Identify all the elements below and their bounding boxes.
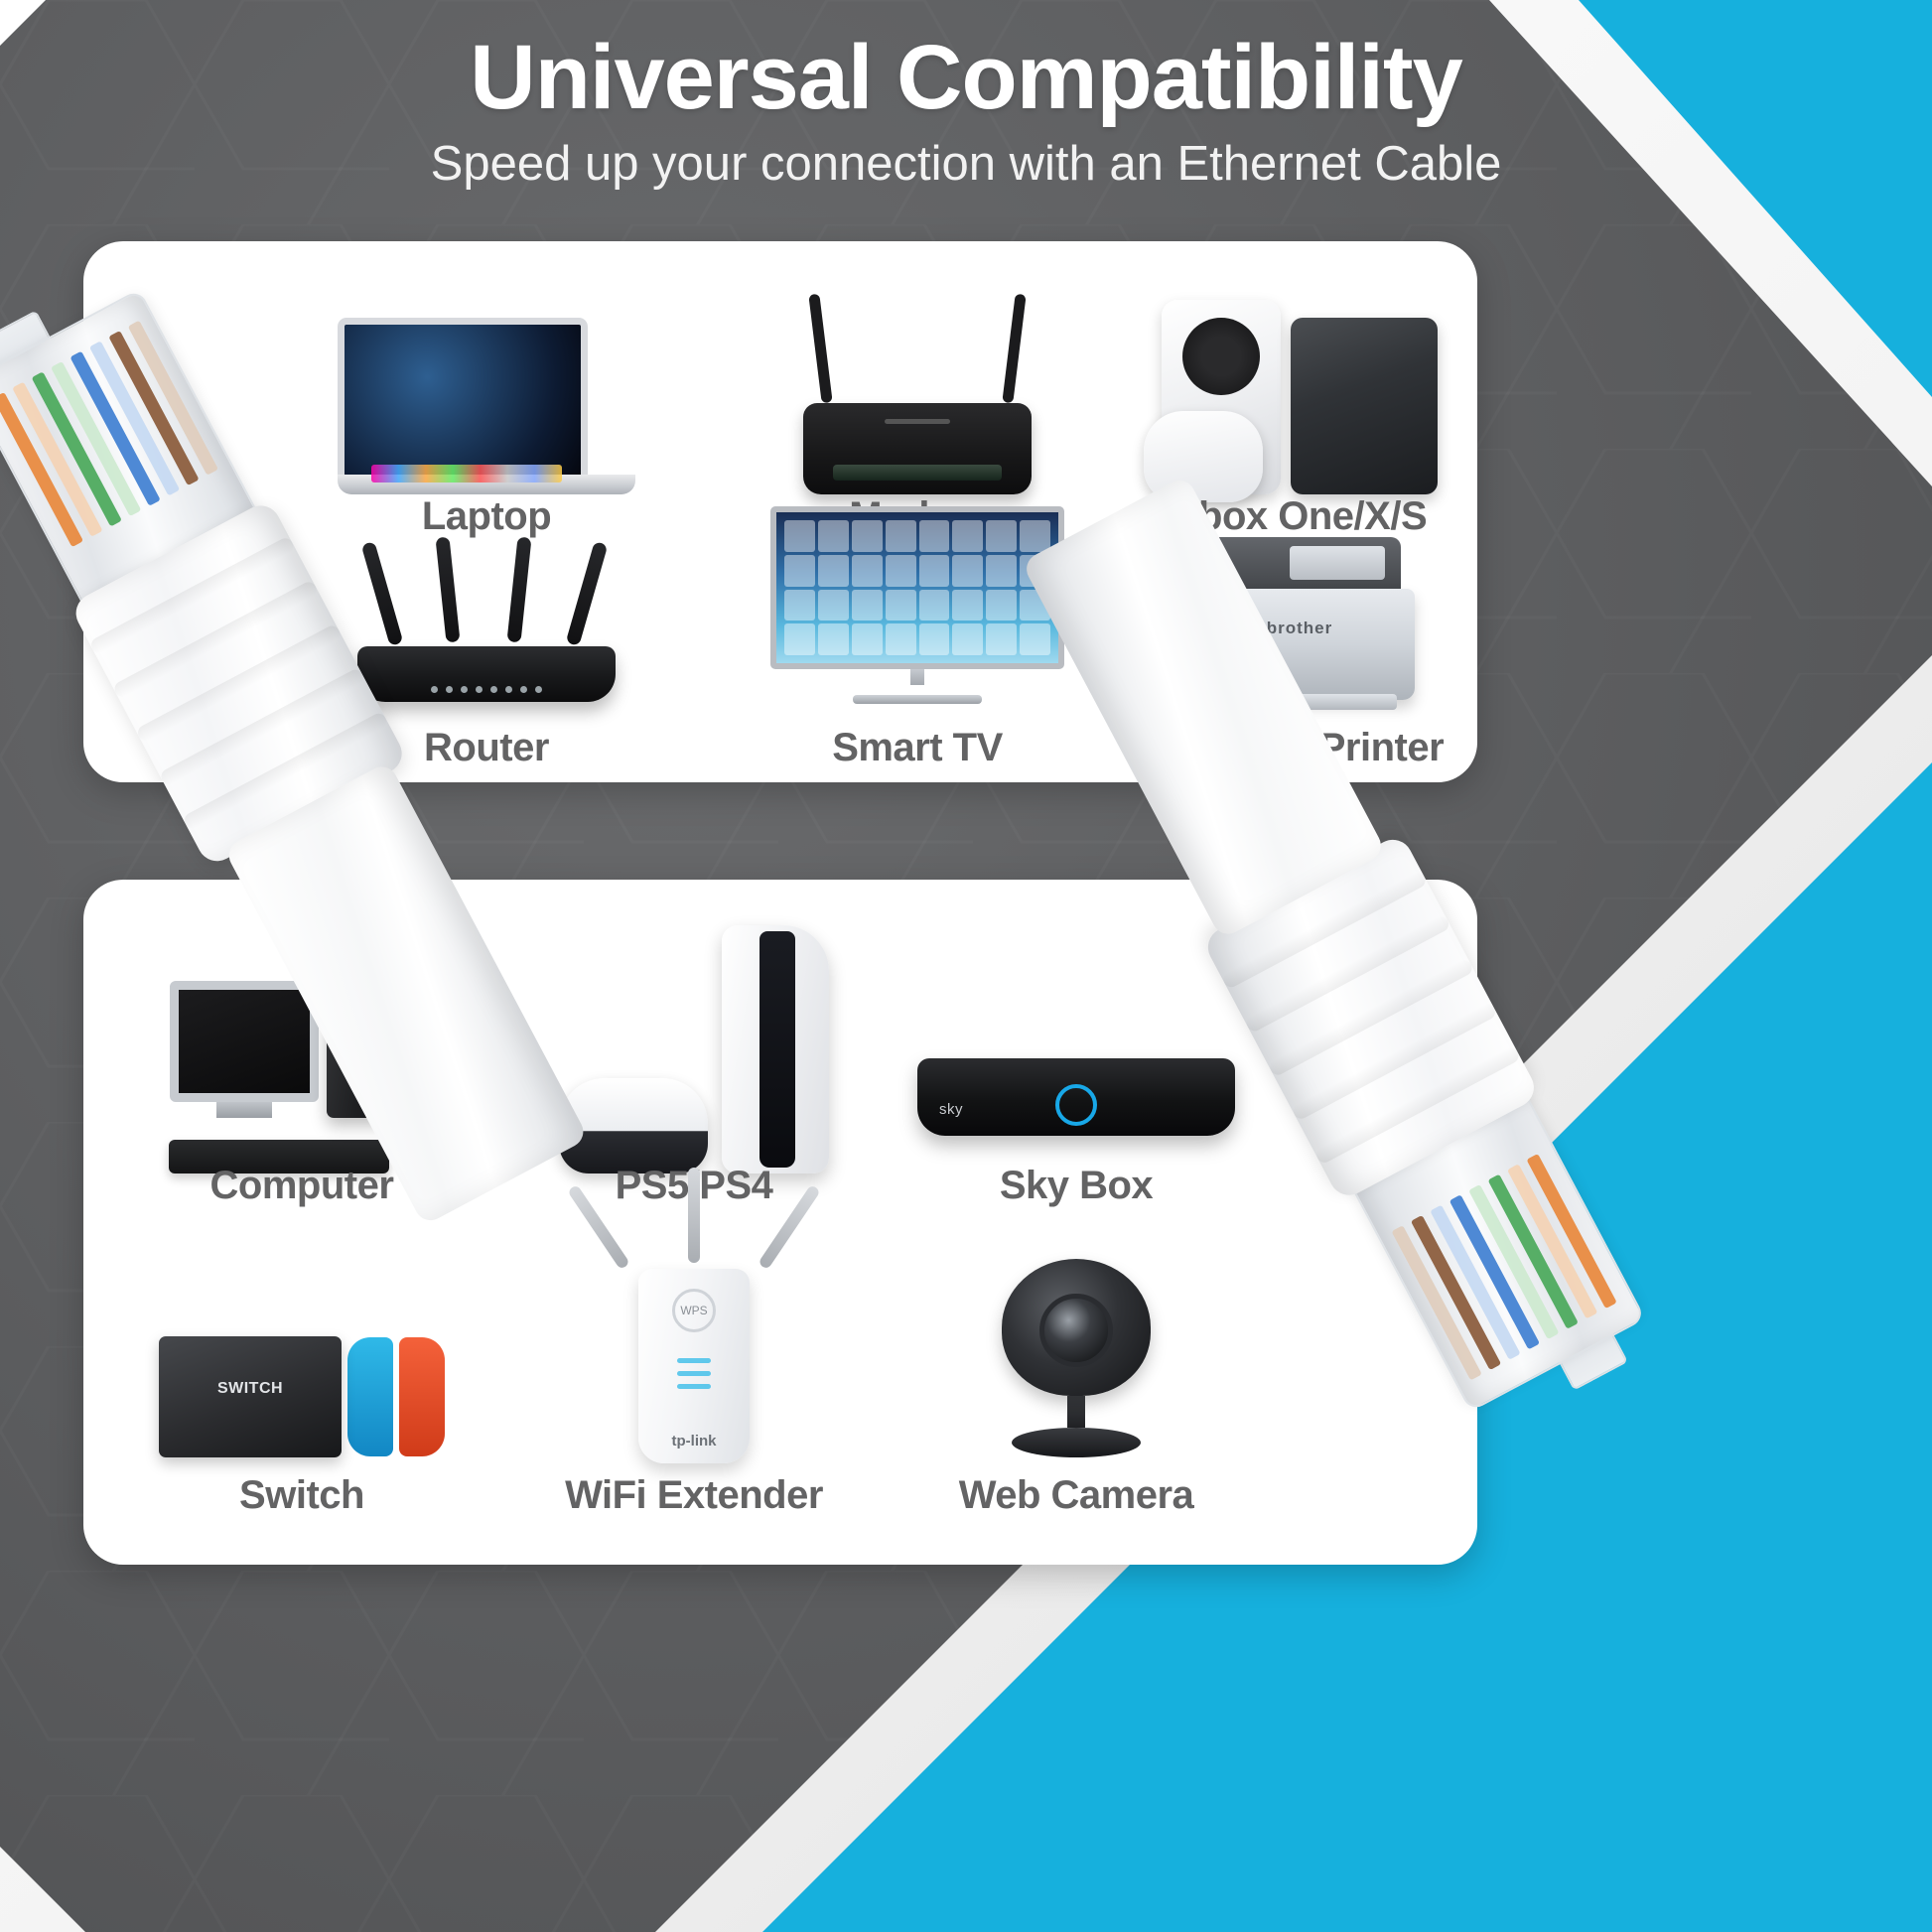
device-item-wifi-extender: WPS tp-link <box>530 1207 858 1473</box>
top-compatibility-card: Laptop Modem Xbox One/X/S <box>83 241 1477 782</box>
device-item-xbox <box>1136 259 1463 512</box>
wifi-extender-icon: WPS tp-link <box>530 1207 858 1473</box>
device-label-web-camera: Web Camera <box>888 1473 1265 1518</box>
laptop-icon <box>338 259 635 512</box>
modem-icon <box>768 259 1066 512</box>
device-item-web-camera <box>888 1225 1265 1473</box>
device-label-printer: Network Printer <box>1136 726 1463 770</box>
page-subtitle: Speed up your connection with an Etherne… <box>0 136 1932 192</box>
router-icon <box>338 517 635 716</box>
device-label-router: Router <box>338 726 635 770</box>
device-item-smart-tv <box>768 517 1066 716</box>
device-item-modem <box>768 259 1066 512</box>
device-item-sky-box: sky <box>888 899 1265 1183</box>
page-title: Universal Compatibility <box>0 30 1932 126</box>
device-label-computer: Computer <box>113 1164 490 1208</box>
device-label-wifi-extender: WiFi Extender <box>530 1473 858 1518</box>
extender-brand-label: tp-link <box>672 1433 717 1449</box>
switch-brand-label: SWITCH <box>217 1380 283 1398</box>
nintendo-switch-icon: SWITCH <box>113 1225 490 1473</box>
device-label-switch: Switch <box>113 1473 490 1518</box>
device-item-computer <box>113 899 490 1183</box>
device-item-router <box>338 517 635 716</box>
wps-button[interactable]: WPS <box>672 1289 716 1332</box>
playstation-console-icon <box>530 899 858 1183</box>
header: Universal Compatibility Speed up your co… <box>0 0 1932 220</box>
desktop-computer-icon <box>113 899 490 1183</box>
device-item-switch: SWITCH <box>113 1225 490 1473</box>
smart-tv-icon <box>768 517 1066 716</box>
device-item-ps5 <box>530 899 858 1183</box>
device-item-laptop <box>338 259 635 512</box>
device-label-sky-box: Sky Box <box>888 1164 1265 1208</box>
bottom-compatibility-card: Computer PS5/PS4 sky Sky Box SW <box>83 880 1477 1565</box>
device-label-smart-tv: Smart TV <box>768 726 1066 770</box>
printer-brand-label: brother <box>1267 619 1333 638</box>
web-camera-icon <box>888 1225 1265 1473</box>
xbox-console-icon <box>1136 259 1463 512</box>
sky-brand-label: sky <box>939 1101 963 1118</box>
sky-box-icon: sky <box>888 899 1265 1183</box>
device-item-printer: brother <box>1136 517 1463 716</box>
printer-icon: brother <box>1136 517 1463 716</box>
